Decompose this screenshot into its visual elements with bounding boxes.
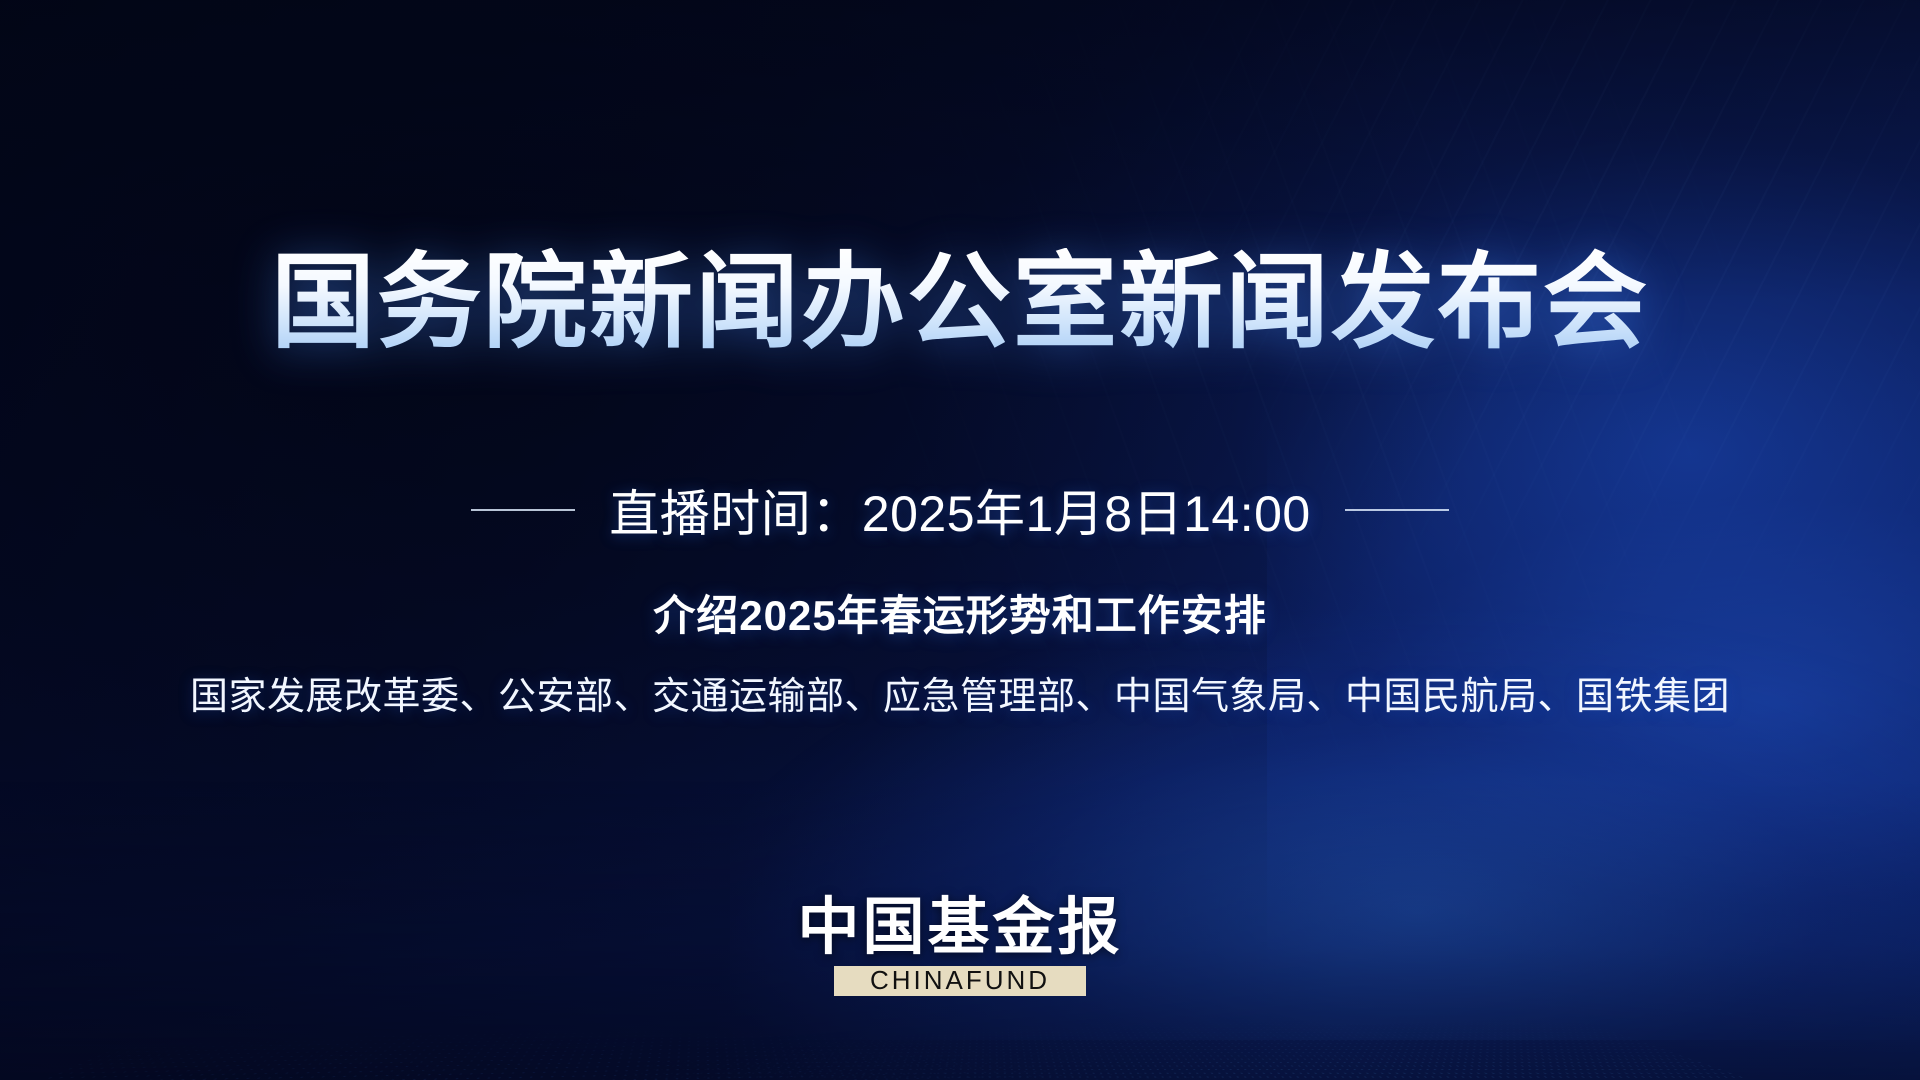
subtitle-text: 介绍2025年春运形势和工作安排	[653, 582, 1266, 643]
page-title: 国务院新闻办公室新闻发布会	[271, 248, 1649, 358]
divider-line-right	[1345, 509, 1449, 511]
poster-canvas: 国务院新闻办公室新闻发布会 直播时间：2025年1月8日14:00 介绍2025…	[0, 0, 1920, 1080]
logo-english-text: CHINAFUND	[870, 967, 1050, 993]
chinafund-logo: 中国基金报 CHINAFUND	[790, 897, 1130, 996]
organizations-text: 国家发展改革委、公安部、交通运输部、应急管理部、中国气象局、中国民航局、国铁集团	[190, 665, 1730, 720]
logo-english-band: CHINAFUND	[834, 966, 1086, 996]
live-time-row: 直播时间：2025年1月8日14:00	[471, 474, 1448, 546]
logo-chinese-text: 中国基金报	[790, 897, 1130, 959]
divider-line-left	[471, 509, 575, 511]
live-time-text: 直播时间：2025年1月8日14:00	[609, 474, 1310, 546]
